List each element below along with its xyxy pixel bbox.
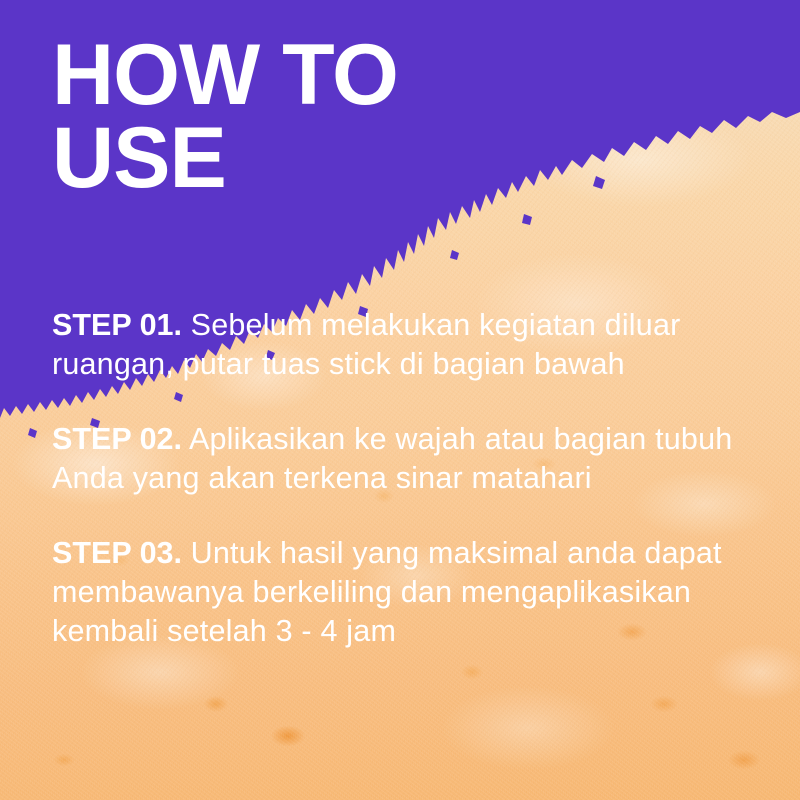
steps-list: STEP 01. Sebelum melakukan kegiatan dilu…: [52, 306, 760, 651]
step-label: STEP 01.: [52, 308, 182, 342]
how-to-use-poster: HOW TO USE STEP 01. Sebelum melakukan ke…: [0, 0, 800, 800]
step-label: STEP 03.: [52, 536, 182, 570]
step-item: STEP 02. Aplikasikan ke wajah atau bagia…: [52, 420, 760, 498]
step-item: STEP 03. Untuk hasil yang maksimal anda …: [52, 534, 760, 651]
page-title: HOW TO USE: [52, 34, 398, 201]
step-label: STEP 02.: [52, 422, 182, 456]
step-item: STEP 01. Sebelum melakukan kegiatan dilu…: [52, 306, 760, 384]
poster-content: HOW TO USE STEP 01. Sebelum melakukan ke…: [0, 0, 800, 800]
